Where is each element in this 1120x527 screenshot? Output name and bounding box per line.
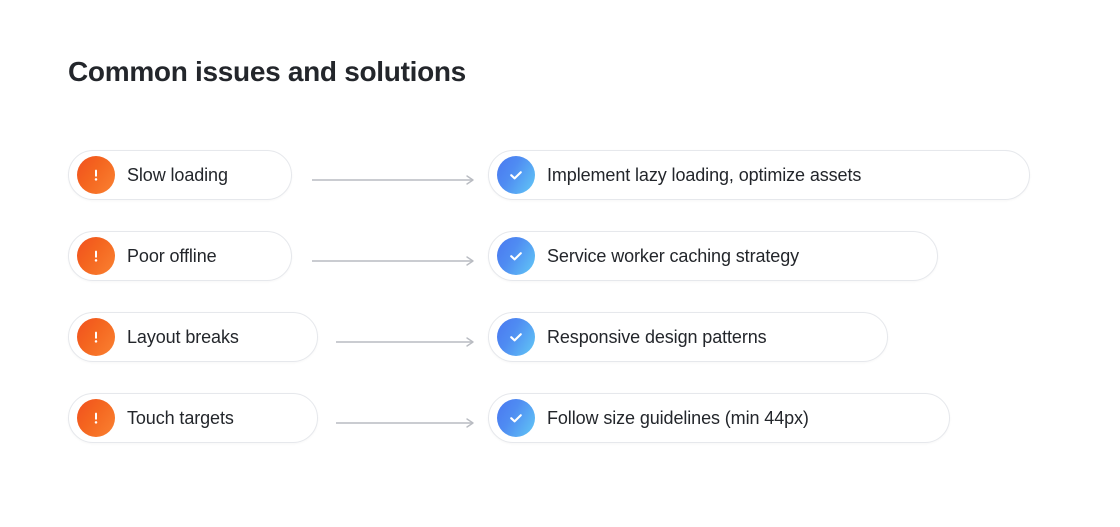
check-icon bbox=[497, 237, 535, 275]
issue-pill[interactable]: Slow loading bbox=[68, 150, 292, 200]
issue-solution-rows: Slow loading Implement lazy loading, opt… bbox=[0, 150, 1120, 474]
page-title: Common issues and solutions bbox=[68, 56, 466, 88]
exclamation-icon bbox=[77, 156, 115, 194]
arrow-right-icon bbox=[312, 175, 476, 185]
issue-label: Poor offline bbox=[127, 247, 217, 265]
check-icon bbox=[497, 318, 535, 356]
arrow-right-icon bbox=[336, 337, 476, 347]
solution-label: Service worker caching strategy bbox=[547, 247, 799, 265]
solution-label: Implement lazy loading, optimize assets bbox=[547, 166, 861, 184]
exclamation-icon bbox=[77, 399, 115, 437]
issue-label: Slow loading bbox=[127, 166, 228, 184]
issue-solution-row: Poor offline Service worker caching stra… bbox=[0, 231, 1120, 281]
issues-solutions-diagram: Common issues and solutions Slow loading bbox=[0, 0, 1120, 527]
exclamation-icon bbox=[77, 318, 115, 356]
issue-label: Layout breaks bbox=[127, 328, 239, 346]
solution-label: Follow size guidelines (min 44px) bbox=[547, 409, 809, 427]
issue-pill[interactable]: Touch targets bbox=[68, 393, 318, 443]
arrow-right-icon bbox=[312, 256, 476, 266]
issue-pill[interactable]: Layout breaks bbox=[68, 312, 318, 362]
arrow-right-icon bbox=[336, 418, 476, 428]
solution-pill[interactable]: Implement lazy loading, optimize assets bbox=[488, 150, 1030, 200]
check-icon bbox=[497, 399, 535, 437]
issue-solution-row: Touch targets Follow size guidelines (mi… bbox=[0, 393, 1120, 443]
solution-pill[interactable]: Service worker caching strategy bbox=[488, 231, 938, 281]
issue-label: Touch targets bbox=[127, 409, 234, 427]
solution-label: Responsive design patterns bbox=[547, 328, 767, 346]
check-icon bbox=[497, 156, 535, 194]
solution-pill[interactable]: Follow size guidelines (min 44px) bbox=[488, 393, 950, 443]
issue-pill[interactable]: Poor offline bbox=[68, 231, 292, 281]
exclamation-icon bbox=[77, 237, 115, 275]
issue-solution-row: Layout breaks Responsive design patterns bbox=[0, 312, 1120, 362]
issue-solution-row: Slow loading Implement lazy loading, opt… bbox=[0, 150, 1120, 200]
solution-pill[interactable]: Responsive design patterns bbox=[488, 312, 888, 362]
